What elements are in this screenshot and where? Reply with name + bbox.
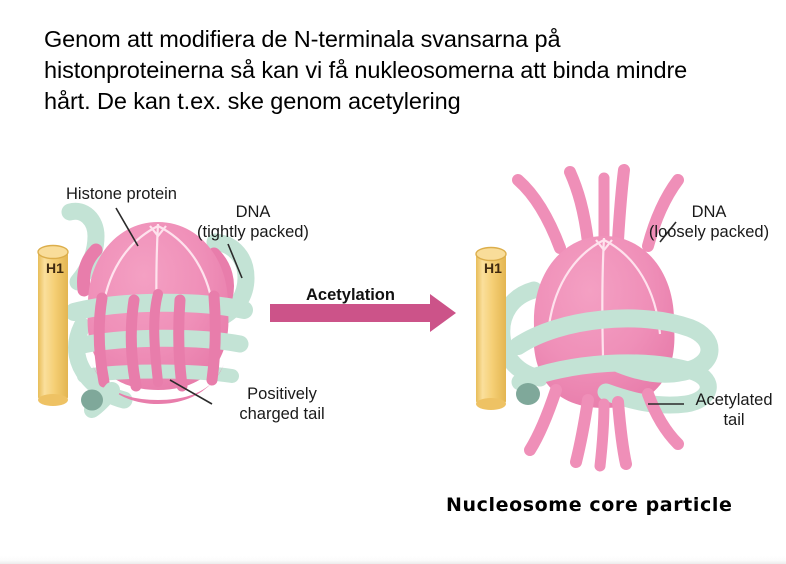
label-acetylated-tail-line2: tail — [688, 410, 780, 430]
label-acetylated-tail: Acetylated tail — [688, 390, 780, 430]
title-line-1: Genom att modifiera de N-terminala svans… — [44, 24, 760, 55]
label-dna-tightly-packed: DNA (tightly packed) — [182, 202, 324, 242]
slide-bottom-edge — [0, 556, 786, 564]
label-positive-tail-line2: charged tail — [212, 404, 352, 424]
label-dna-tight-line1: DNA — [182, 202, 324, 222]
label-h1-left: H1 — [46, 260, 64, 276]
title-line-3: hårt. De kan t.ex. ske genom acetylering — [44, 86, 760, 117]
page-title: Genom att modifiera de N-terminala svans… — [44, 24, 760, 117]
label-positively-charged-tail: Positively charged tail — [212, 384, 352, 424]
label-dna-loose-line1: DNA — [634, 202, 784, 222]
label-acetylated-tail-line1: Acetylated — [688, 390, 780, 410]
label-dna-loose-line2: (loosely packed) — [634, 222, 784, 242]
label-dna-tight-line2: (tightly packed) — [182, 222, 324, 242]
right-dna-end-cap — [516, 383, 540, 405]
title-line-2: histonproteinerna så kan vi få nukleosom… — [44, 55, 760, 86]
figure-caption: Nucleosome core particle — [446, 494, 732, 516]
left-dna-end-cap — [81, 390, 103, 411]
label-dna-loosely-packed: DNA (loosely packed) — [634, 202, 784, 242]
label-acetylation: Acetylation — [306, 286, 395, 305]
slide-canvas: Genom att modifiera de N-terminala svans… — [0, 0, 786, 564]
nucleosome-acetylation-diagram: Histone protein DNA (tightly packed) Pos… — [0, 150, 786, 550]
left-dna-tail-lower — [81, 390, 112, 411]
right-histone-tails-lower — [530, 390, 678, 466]
label-positive-tail-line1: Positively — [212, 384, 352, 404]
label-h1-right: H1 — [484, 260, 502, 276]
label-histone-protein: Histone protein — [66, 184, 177, 204]
